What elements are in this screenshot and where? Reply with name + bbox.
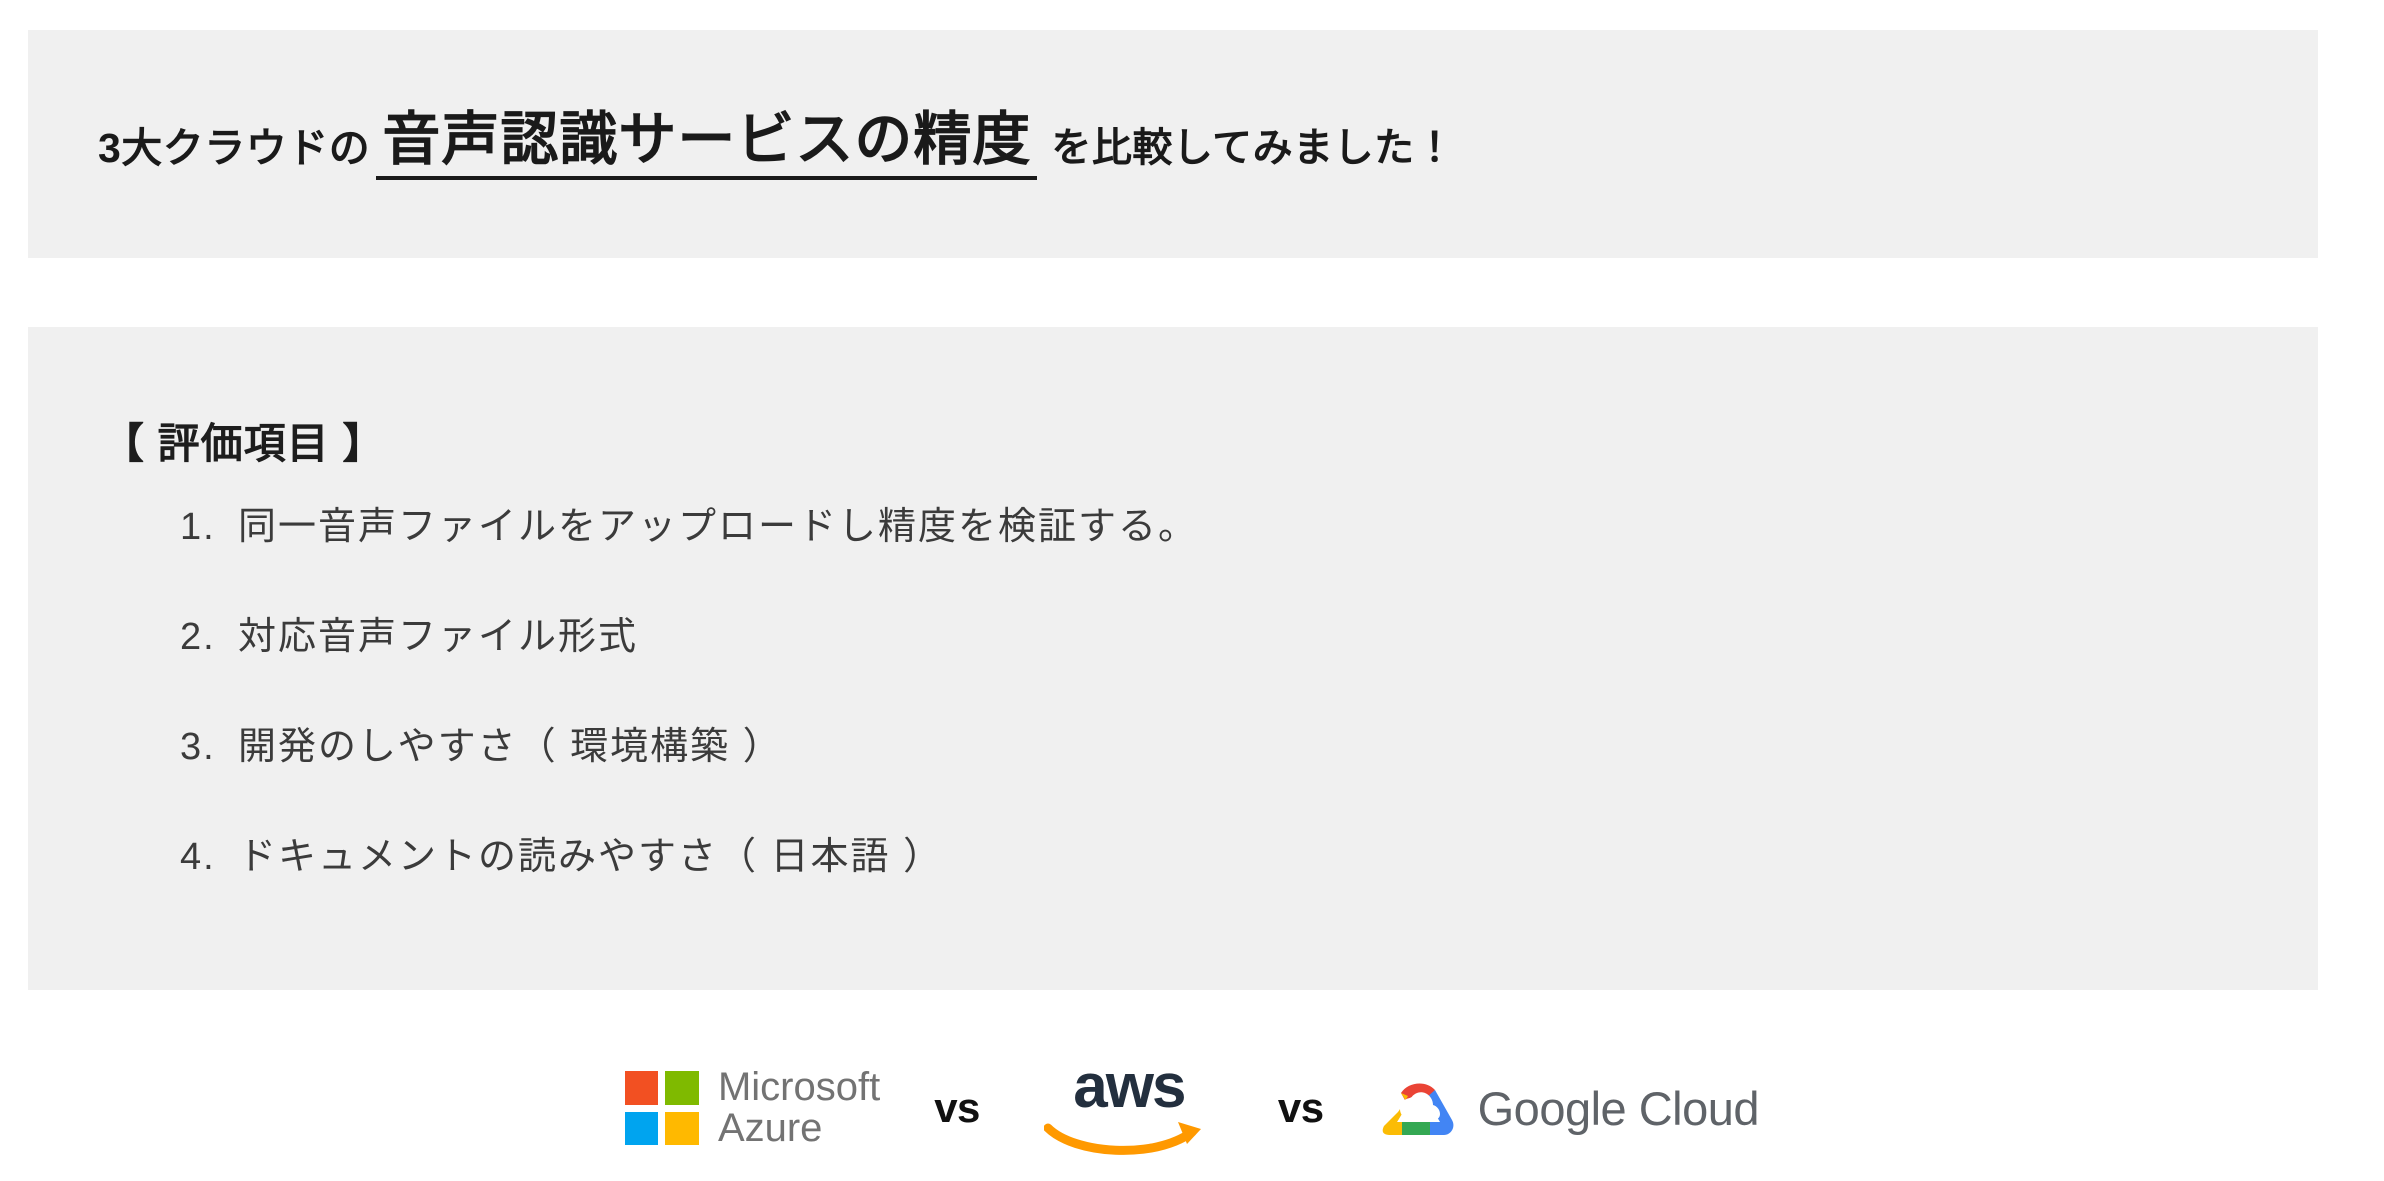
logo-slot-google-cloud: Google Cloud	[1378, 1074, 1759, 1142]
google-cloud-mark-icon	[1378, 1074, 1458, 1142]
list-item-number: 3.	[180, 726, 238, 769]
aws-wordmark: aws	[1073, 1058, 1184, 1115]
list-item: 3. 開発のしやすさ（ 環境構築 ）	[180, 715, 2180, 825]
section-heading-evaluation-items: 【 評価項目 】	[102, 410, 385, 471]
logo-slot-azure: Microsoft Azure	[625, 1067, 880, 1149]
azure-wordmark: Microsoft Azure	[718, 1067, 880, 1149]
evaluation-panel: 【 評価項目 】 1. 同一音声ファイルをアップロードし精度を検証する。 2. …	[28, 327, 2318, 990]
page-title: 3大クラウドの 音声認識サービスの精度 を比較してみました！	[98, 30, 1455, 258]
list-item-number: 1.	[180, 506, 238, 549]
azure-wordmark-line2: Azure	[718, 1108, 880, 1149]
list-item: 1. 同一音声ファイルをアップロードし精度を検証する。	[180, 495, 2180, 605]
title-panel: 3大クラウドの 音声認識サービスの精度 を比較してみました！	[28, 30, 2318, 258]
microsoft-square-yellow-icon	[665, 1112, 699, 1146]
vs-separator-2: vs	[1224, 1087, 1378, 1129]
list-item: 4. ドキュメントの読みやすさ（ 日本語 ）	[180, 825, 2180, 935]
microsoft-square-blue-icon	[625, 1112, 659, 1146]
list-item: 2. 対応音声ファイル形式	[180, 605, 2180, 715]
evaluation-item-list: 1. 同一音声ファイルをアップロードし精度を検証する。 2. 対応音声ファイル形…	[180, 495, 2180, 935]
list-item-label: 開発のしやすさ（ 環境構築 ）	[238, 715, 783, 770]
aws-smile-arrow-icon	[1044, 1118, 1214, 1158]
vs-separator-1: vs	[880, 1087, 1034, 1129]
slide-canvas: 3大クラウドの 音声認識サービスの精度 を比較してみました！ 【 評価項目 】 …	[0, 0, 2384, 1181]
azure-wordmark-line1: Microsoft	[718, 1067, 880, 1108]
microsoft-azure-logo: Microsoft Azure	[625, 1067, 880, 1149]
list-item-label: 同一音声ファイルをアップロードし精度を検証する。	[238, 495, 1198, 550]
list-item-label: ドキュメントの読みやすさ（ 日本語 ）	[238, 825, 943, 880]
google-cloud-wordmark: Google Cloud	[1478, 1081, 1759, 1136]
list-item-number: 4.	[180, 836, 238, 879]
google-cloud-logo: Google Cloud	[1378, 1074, 1759, 1142]
vendor-logo-strip: Microsoft Azure vs aws vs	[0, 1035, 2384, 1181]
title-tail-text: を比較してみました！	[1051, 115, 1455, 173]
title-lead-text: 3大クラウドの	[98, 114, 370, 174]
logo-slot-aws: aws	[1034, 1058, 1224, 1157]
microsoft-square-green-icon	[665, 1071, 699, 1105]
title-emphasis-text: 音声認識サービスの精度	[376, 108, 1037, 180]
list-item-number: 2.	[180, 616, 238, 659]
microsoft-squares-icon	[625, 1071, 699, 1145]
aws-logo: aws	[1034, 1058, 1224, 1157]
list-item-label: 対応音声ファイル形式	[238, 605, 638, 660]
microsoft-square-red-icon	[625, 1071, 659, 1105]
